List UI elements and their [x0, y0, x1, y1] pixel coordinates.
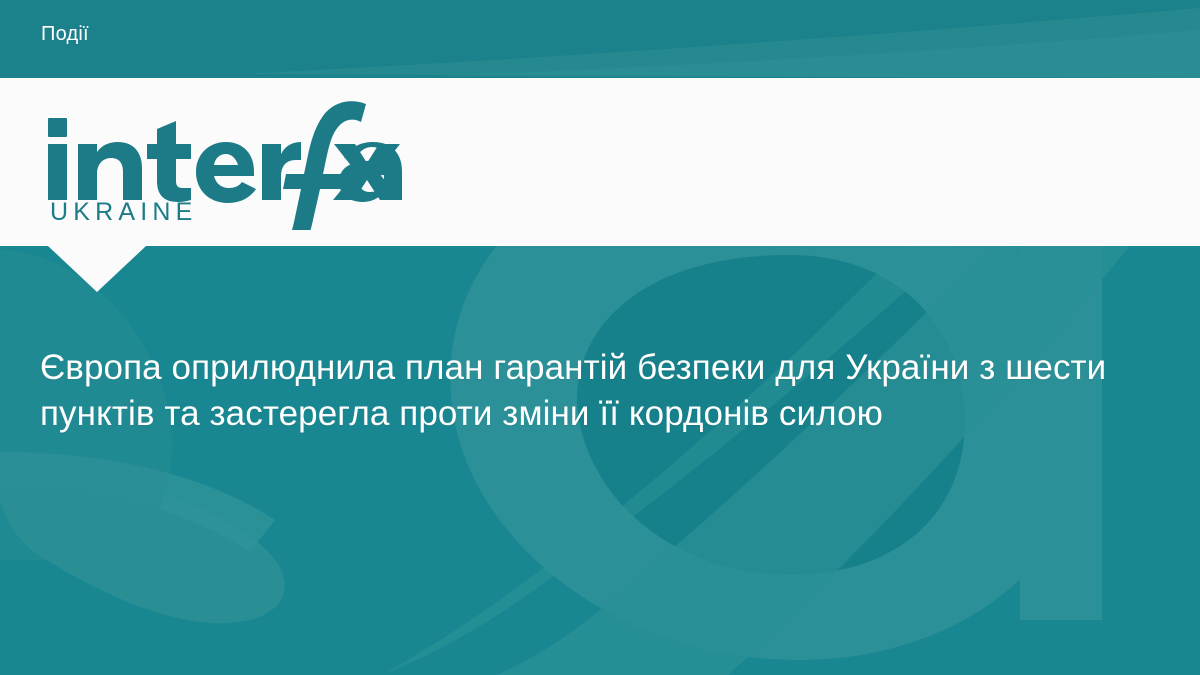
watermark-tail-curl	[0, 470, 285, 623]
category-label[interactable]: Події	[41, 22, 89, 46]
watermark-tail-edge	[0, 452, 275, 552]
top-bar-curve-decoration	[0, 0, 1200, 78]
news-card-screenshot: Події	[0, 0, 1200, 675]
article-headline: Європа оприлюднила план гарантій безпеки…	[40, 345, 1165, 437]
interfax-logo[interactable]: UKRAINE	[44, 96, 414, 230]
logo-card-notch	[48, 246, 146, 292]
brand-region-label: UKRAINE	[50, 198, 198, 226]
top-category-bar: Події	[0, 0, 1200, 78]
